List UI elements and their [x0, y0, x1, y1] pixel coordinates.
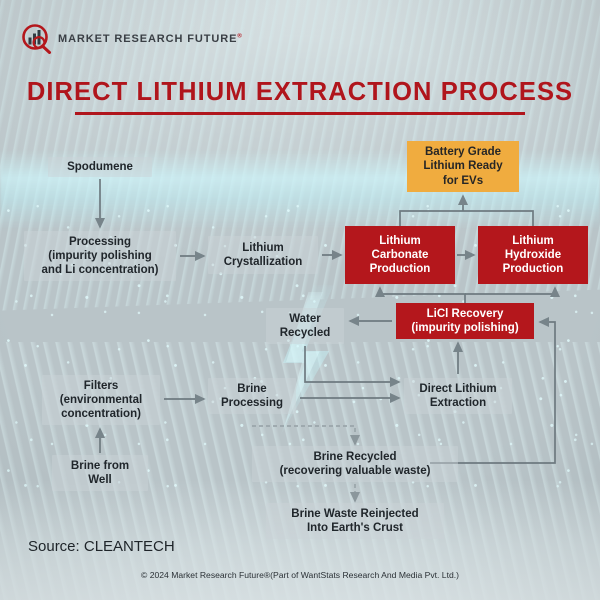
flow-node-water[interactable]: WaterRecycled [266, 308, 344, 344]
title-underline-divider [75, 112, 525, 115]
flow-node-label: Brine fromWell [71, 459, 129, 487]
flow-node-label: Spodumene [67, 160, 133, 174]
flow-node-label: Processing(impurity polishingand Li conc… [42, 235, 159, 277]
flow-node-label: Filters(environmentalconcentration) [60, 379, 142, 421]
flow-node-crystallization[interactable]: LithiumCrystallization [208, 236, 318, 274]
flow-node-label: LithiumCarbonateProduction [370, 234, 431, 276]
flow-node-spodumene[interactable]: Spodumene [48, 157, 152, 177]
flow-node-brinerecycled[interactable]: Brine Recycled(recovering valuable waste… [252, 446, 458, 482]
flow-node-processing[interactable]: Processing(impurity polishingand Li conc… [24, 231, 176, 281]
copyright-label: © 2024 Market Research Future®(Part of W… [0, 570, 600, 580]
flow-node-label: BrineProcessing [221, 382, 283, 410]
flow-node-hydroxide[interactable]: LithiumHydroxideProduction [478, 226, 588, 284]
brand-logo-wordmark: MARKET RESEARCH FUTURE [58, 33, 237, 45]
flow-node-label: WaterRecycled [280, 312, 331, 340]
page-title: DIRECT LITHIUM EXTRACTION PROCESS [0, 78, 600, 107]
source-label: Source: CLEANTECH [28, 538, 175, 555]
magnifier-bar-chart-icon [22, 24, 52, 54]
flow-node-label: LiCl Recovery(impurity polishing) [411, 307, 518, 335]
registered-mark-icon: ® [237, 33, 242, 39]
flow-node-label: LithiumHydroxideProduction [503, 234, 564, 276]
flow-node-carbonate[interactable]: LithiumCarbonateProduction [345, 226, 455, 284]
brand-logo-text: MARKET RESEARCH FUTURE® [58, 33, 243, 45]
flow-node-brinewaste[interactable]: Brine Waste ReinjectedInto Earth's Crust [266, 503, 444, 539]
brand-logo[interactable]: MARKET RESEARCH FUTURE® [22, 24, 243, 54]
flow-node-label: Brine Waste ReinjectedInto Earth's Crust [291, 507, 418, 535]
flow-node-label: LithiumCrystallization [224, 241, 303, 269]
flow-node-filters[interactable]: Filters(environmentalconcentration) [42, 375, 160, 425]
flow-node-brineproc[interactable]: BrineProcessing [208, 378, 296, 414]
flow-node-licl[interactable]: LiCl Recovery(impurity polishing) [396, 303, 534, 339]
flow-node-label: Battery GradeLithium Readyfor EVs [423, 145, 502, 187]
flow-node-dle[interactable]: Direct LithiumExtraction [404, 378, 512, 414]
flow-node-label: Direct LithiumExtraction [419, 382, 496, 410]
flow-node-brinewell[interactable]: Brine fromWell [52, 455, 148, 491]
infographic-canvas: MARKET RESEARCH FUTURE® DIRECT LITHIUM E… [0, 0, 600, 600]
flow-node-label: Brine Recycled(recovering valuable waste… [280, 450, 431, 478]
flow-node-battery[interactable]: Battery GradeLithium Readyfor EVs [407, 141, 519, 192]
